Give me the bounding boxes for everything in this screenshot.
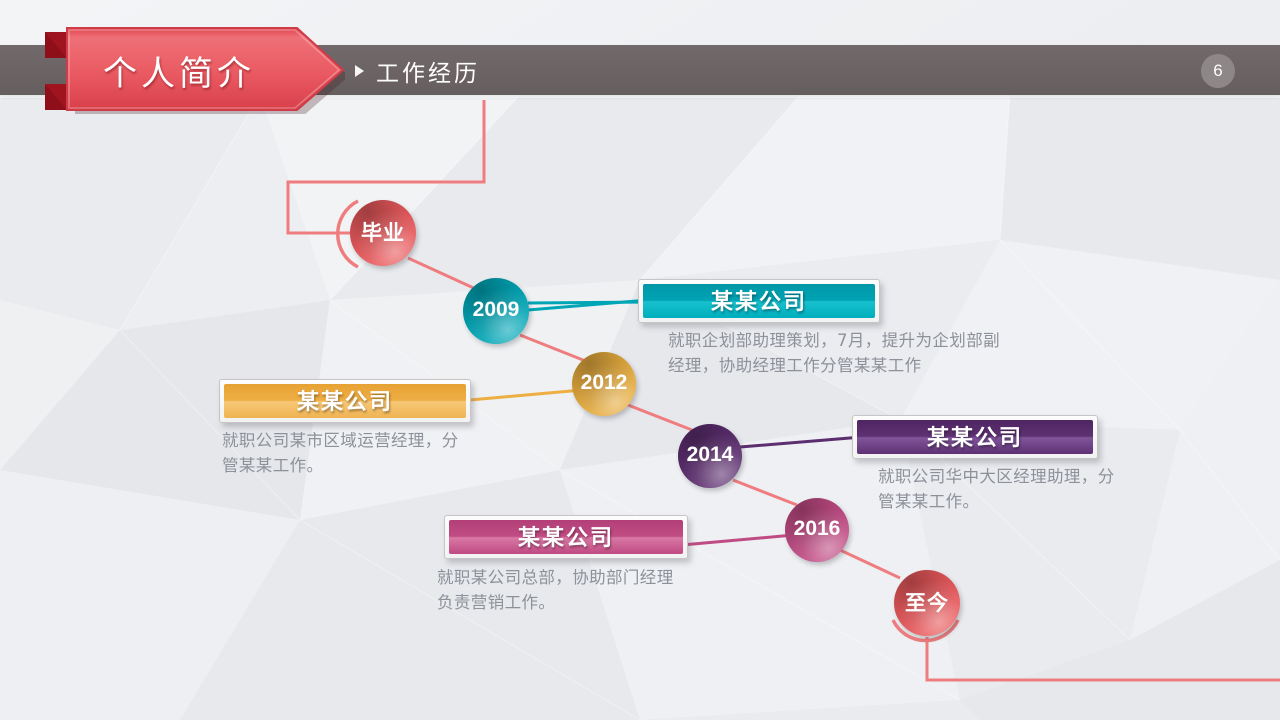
entry-2016-description: 就职某公司总部，协助部门经理 负责营销工作。 — [437, 565, 757, 615]
branch-2012 — [470, 390, 582, 400]
spine-2009-2012 — [520, 335, 588, 362]
timeline-node-present[interactable]: 至今 — [894, 570, 960, 636]
entry-2012-plate-inner: 某某公司 — [224, 384, 466, 418]
timeline-node-graduation[interactable]: 毕业 — [350, 200, 416, 266]
entry-2016-company: 某某公司 — [518, 520, 614, 552]
timeline-node-present-label: 至今 — [905, 587, 949, 617]
timeline-node-2016[interactable]: 2016 — [785, 498, 849, 562]
spine-2016-present — [840, 550, 900, 578]
timeline-node-graduation-label: 毕业 — [361, 217, 405, 247]
entry-2014-plate-inner: 某某公司 — [857, 420, 1093, 454]
branch-2014 — [740, 437, 862, 447]
timeline-node-2009-label: 2009 — [473, 298, 520, 322]
spine-2012-2014 — [628, 405, 692, 430]
timeline-node-2016-label: 2016 — [794, 517, 841, 541]
entry-2009-plate-inner: 某某公司 — [643, 284, 875, 318]
slide-canvas: 工作经历 6 个人简介 — [0, 0, 1280, 720]
timeline-node-2014[interactable]: 2014 — [678, 424, 742, 488]
timeline-node-2012[interactable]: 2012 — [572, 352, 636, 416]
entry-2009-company-plate[interactable]: 某某公司 — [638, 279, 880, 323]
entry-2016-company-plate[interactable]: 某某公司 — [444, 515, 688, 559]
entry-2012-description: 就职公司某市区域运营经理，分 管某某工作。 — [222, 428, 522, 478]
entry-2014-description: 就职公司华中大区经理助理，分 管某某工作。 — [878, 464, 1198, 514]
timeline-node-2012-label: 2012 — [581, 371, 628, 395]
entry-2009-description: 就职企划部助理策划，7月，提升为企划部副 经理，协助经理工作分管某某工作 — [668, 328, 1068, 378]
entry-2014-company: 某某公司 — [927, 420, 1023, 452]
entry-2016-plate-inner: 某某公司 — [449, 520, 683, 554]
spine-2014-2016 — [733, 480, 797, 505]
entry-2012-company: 某某公司 — [297, 384, 393, 416]
branch-2009-b — [528, 302, 648, 303]
entry-2009-company: 某某公司 — [711, 284, 807, 316]
timeline-node-2014-label: 2014 — [687, 443, 734, 467]
spine-graduation-2009 — [408, 258, 478, 290]
entry-2012-company-plate[interactable]: 某某公司 — [219, 379, 471, 423]
entry-2014-company-plate[interactable]: 某某公司 — [852, 415, 1098, 459]
timeline-node-2009[interactable]: 2009 — [463, 278, 529, 344]
branch-2016 — [682, 535, 794, 545]
connector-present-exit — [927, 637, 1280, 680]
